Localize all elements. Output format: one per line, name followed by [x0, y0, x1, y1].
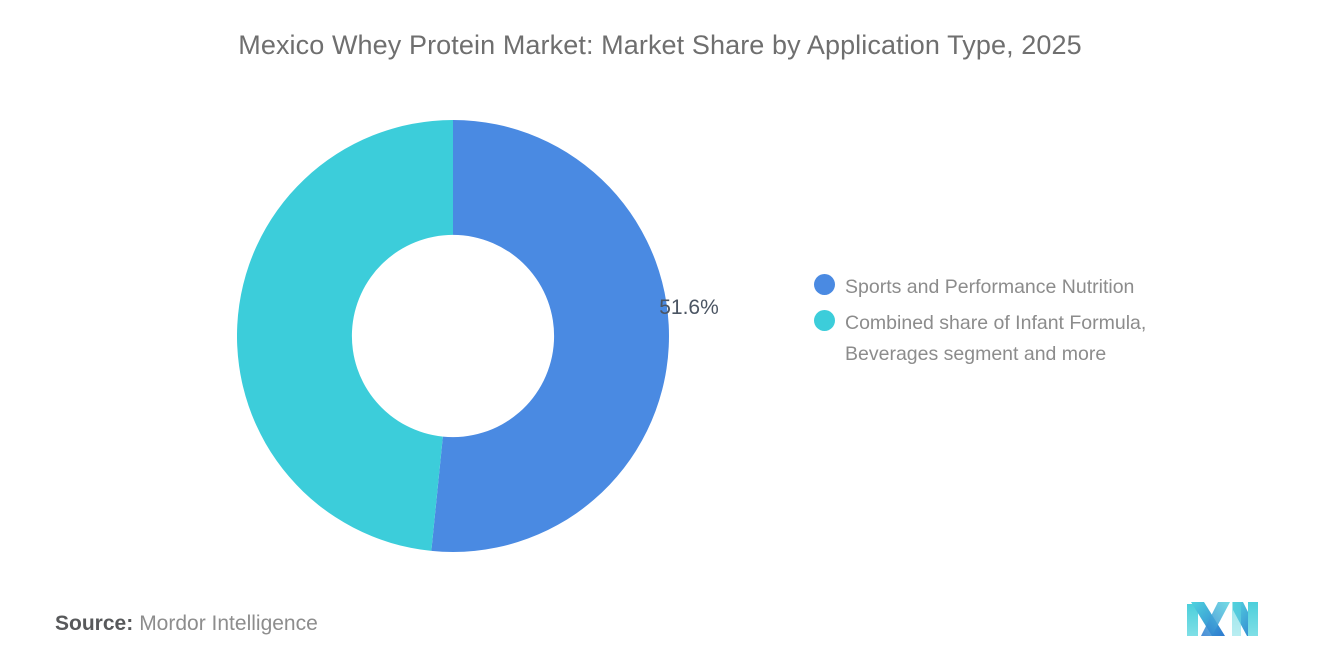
source-label: Source: — [55, 612, 133, 635]
source-line: Source:Mordor Intelligence — [55, 612, 318, 636]
source-value: Mordor Intelligence — [139, 612, 318, 635]
legend-swatch-icon — [814, 274, 835, 295]
donut-slice-0-value-label: 51.6% — [623, 296, 755, 320]
donut-slice-sports-and-performance-nutrition[interactable] — [431, 120, 669, 552]
donut-chart: 51.6% — [237, 120, 669, 552]
legend-item-label: Sports and Performance Nutrition — [845, 272, 1134, 303]
chart-title: Mexico Whey Protein Market: Market Share… — [0, 30, 1320, 61]
donut-slice-combined-share[interactable] — [237, 120, 453, 551]
mordor-intelligence-logo-icon — [1185, 598, 1259, 638]
legend-item-combined-share[interactable]: Combined share of Infant Formula, Bevera… — [814, 308, 1244, 370]
chart-figure: Mexico Whey Protein Market: Market Share… — [0, 0, 1320, 665]
legend-swatch-icon — [814, 310, 835, 331]
logo-svg — [1185, 598, 1259, 638]
legend-item-label: Combined share of Infant Formula, Bevera… — [845, 308, 1215, 370]
legend-item-sports-and-performance-nutrition[interactable]: Sports and Performance Nutrition — [814, 272, 1244, 303]
donut-chart-svg — [237, 120, 669, 552]
chart-legend: Sports and Performance Nutrition Combine… — [814, 272, 1244, 375]
